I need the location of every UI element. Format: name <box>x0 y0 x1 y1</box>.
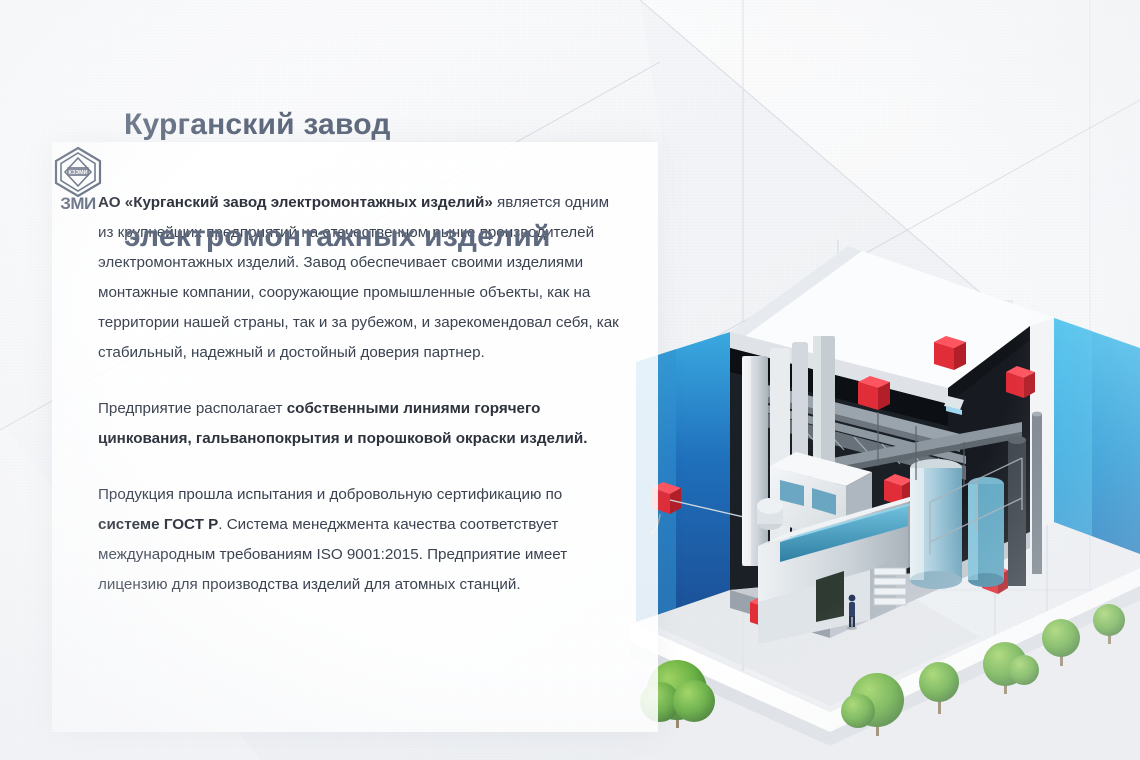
logo-svg: КЗЭМИ ЗМИ <box>52 145 104 211</box>
zmi-hexagon-logo-icon: КЗЭМИ ЗМИ <box>52 145 104 216</box>
logo-letters: ЗМИ <box>60 194 96 211</box>
logo-inner-text: КЗЭМИ <box>68 170 87 176</box>
presentation-slide: КЗЭМИ ЗМИ Курганский завод электромонтаж… <box>0 0 1140 760</box>
isometric-factory-illustration <box>630 150 1140 760</box>
page-title: Курганский завод электромонтажных издели… <box>124 32 551 330</box>
page-title-line-2: электромонтажных изделий <box>124 218 551 255</box>
factory-illustration-svg <box>630 150 1140 760</box>
paragraph-certification: Продукция прошла испытания и добровольну… <box>98 480 622 600</box>
marker-cube-1 <box>858 376 890 410</box>
slide-header: КЗЭМИ ЗМИ Курганский завод электромонтаж… <box>52 32 551 330</box>
paragraph-production-lines: Предприятие располагает собственными лин… <box>98 394 622 454</box>
page-title-line-1: Курганский завод <box>124 106 551 143</box>
marker-cube-2 <box>934 336 966 370</box>
marker-cube-3 <box>1006 366 1035 398</box>
